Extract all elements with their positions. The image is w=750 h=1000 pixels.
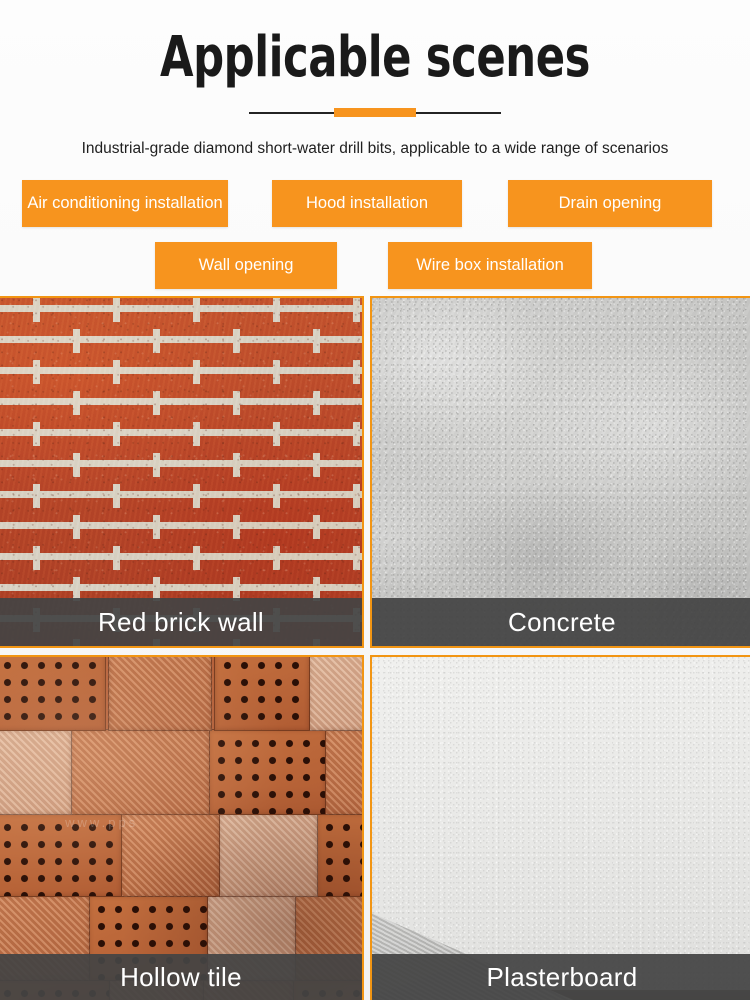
material-caption-label: Hollow tile	[120, 962, 242, 993]
plasterboard-texture	[372, 657, 750, 1000]
material-photo-grid: Red brick wall Concrete www.pps	[0, 296, 750, 1000]
plasterboard-photo	[372, 657, 750, 1000]
brick-grain	[0, 298, 362, 646]
material-caption: Concrete	[372, 598, 750, 646]
material-caption-label: Red brick wall	[98, 607, 264, 638]
material-caption-label: Concrete	[508, 607, 616, 638]
page-subtitle: Industrial-grade diamond short-water dri…	[0, 139, 750, 159]
material-caption-label: Plasterboard	[486, 962, 637, 993]
scene-tag-drain-opening[interactable]: Drain opening	[508, 180, 712, 227]
concrete-texture	[372, 298, 750, 646]
material-cell-concrete[interactable]: Concrete	[370, 296, 750, 648]
title-divider	[249, 108, 501, 117]
material-caption: Hollow tile	[0, 954, 362, 1000]
concrete-photo	[372, 298, 750, 646]
material-cell-red-brick-wall[interactable]: Red brick wall	[0, 296, 364, 648]
material-caption: Plasterboard	[372, 954, 750, 1000]
red-brick-wall-photo	[0, 298, 362, 646]
scene-tag-label: Hood installation	[306, 194, 428, 213]
scene-tag-label: Wall opening	[199, 256, 294, 275]
material-cell-plasterboard[interactable]: Plasterboard	[370, 655, 750, 1000]
scene-tag-hood-installation[interactable]: Hood installation	[272, 180, 462, 227]
brick-texture	[0, 298, 362, 646]
hollow-tile-photo: www.pps	[0, 657, 362, 1000]
applicable-scenes-infographic: Applicable scenes Industrial-grade diamo…	[0, 0, 750, 1000]
page-title: Applicable scenes	[53, 28, 698, 88]
header-section: Applicable scenes Industrial-grade diamo…	[0, 0, 750, 296]
hollow-tile-shading	[0, 657, 362, 1000]
scene-tag-label: Air conditioning installation	[27, 194, 222, 213]
material-caption: Red brick wall	[0, 598, 362, 646]
concrete-speckle	[372, 298, 750, 646]
scene-tag-label: Drain opening	[559, 194, 662, 213]
scene-tag-air-conditioning-installation[interactable]: Air conditioning installation	[22, 180, 228, 227]
material-cell-hollow-tile[interactable]: www.pps Hollow tile	[0, 655, 364, 1000]
hollow-tile-texture: www.pps	[0, 657, 362, 1000]
scene-tag-wall-opening[interactable]: Wall opening	[155, 242, 337, 289]
divider-accent-bar	[334, 108, 416, 117]
scene-tag-label: Wire box installation	[416, 256, 564, 275]
scene-tag-wire-box-installation[interactable]: Wire box installation	[388, 242, 592, 289]
photo-watermark: www.pps	[65, 815, 138, 830]
